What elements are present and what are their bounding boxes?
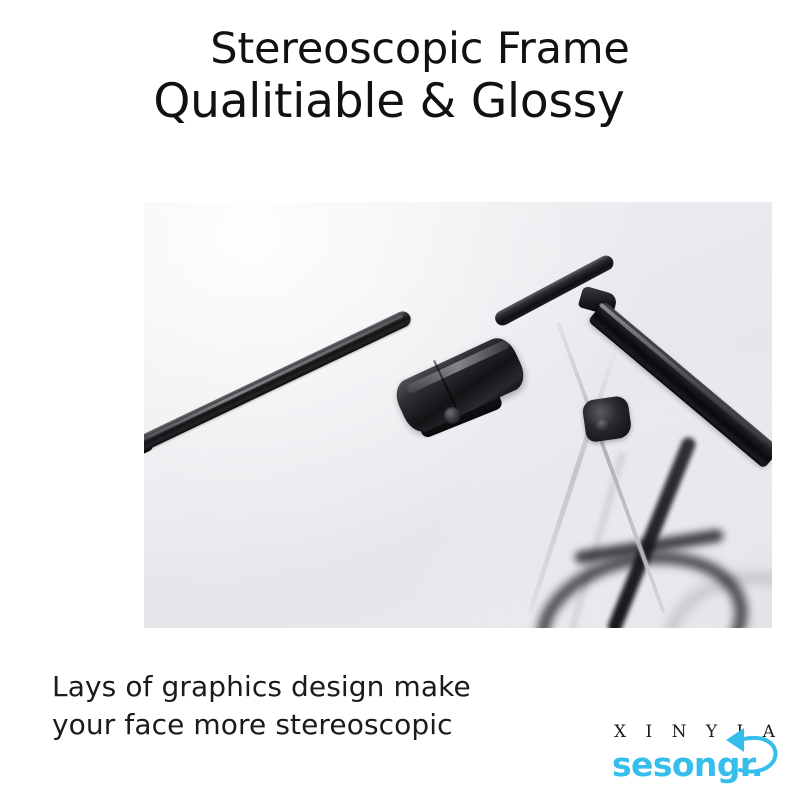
brand-name-xinyia: X I N Y I A xyxy=(614,722,782,742)
caption-line-2: your face more stereoscopic xyxy=(52,706,471,744)
page-title: Stereoscopic Frame Qualitiable & Glossy xyxy=(0,28,800,126)
product-photo-inner xyxy=(144,202,772,628)
caption-text: Lays of graphics design make your face m… xyxy=(52,668,471,743)
nose-pad-screw-head xyxy=(596,418,611,433)
product-image-canvas: Stereoscopic Frame Qualitiable & Glossy xyxy=(0,0,800,800)
brand-name-sesongr: sesongr. xyxy=(612,745,763,784)
hinge-screw xyxy=(444,407,461,424)
headline-line-1: Stereoscopic Frame xyxy=(0,28,800,72)
caption-line-1: Lays of graphics design make xyxy=(52,668,471,706)
product-photo xyxy=(144,202,772,628)
brand-logo: X I N Y I A sesongr. xyxy=(612,718,782,790)
headline-line-2: Qualitiable & Glossy xyxy=(0,78,800,126)
